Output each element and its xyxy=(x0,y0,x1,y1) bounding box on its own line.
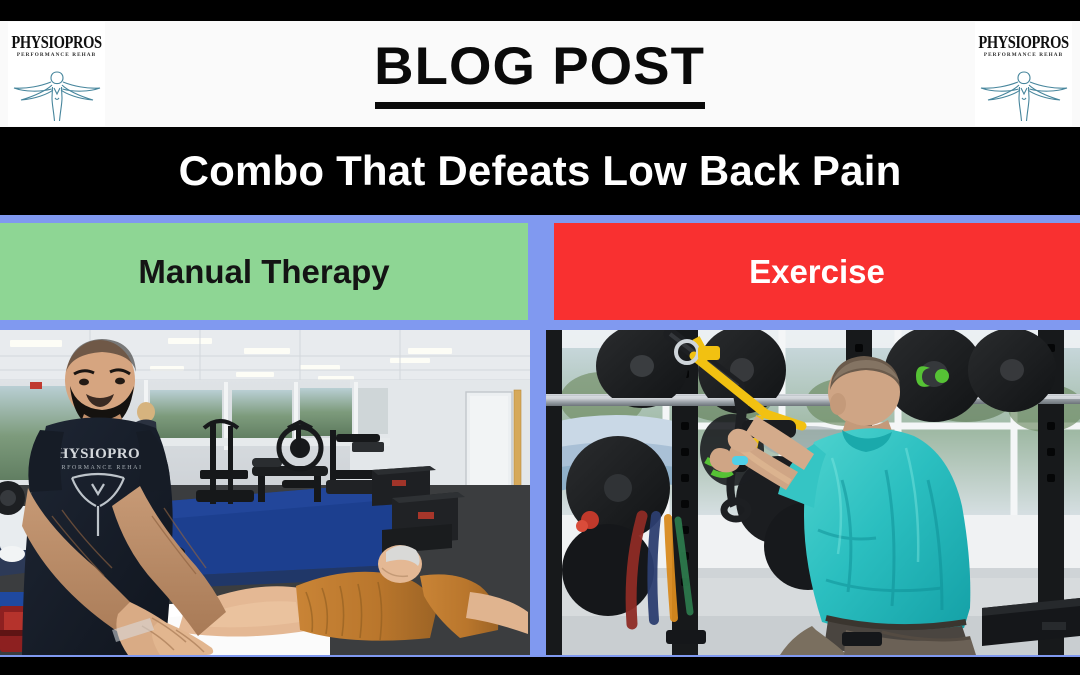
photo-exercise xyxy=(546,330,1080,655)
physiopros-logo-right: PHYSIOPROS PERFORMANCE REHAB xyxy=(975,22,1072,126)
svg-text:PHYSIOPROS: PHYSIOPROS xyxy=(47,446,149,462)
category-chip-label: Exercise xyxy=(749,255,885,288)
category-label-band: Manual Therapy Exercise xyxy=(0,215,1080,330)
photo-manual-therapy: PHYSIOPROS PERFORMANCE REHAB xyxy=(0,330,530,655)
blog-post-graphic: PHYSIOPROS PERFORMANCE REHAB xyxy=(0,0,1080,675)
page-title: BLOG POST xyxy=(375,40,706,93)
logo-wordmark: PHYSIOPROS xyxy=(11,34,101,52)
header: PHYSIOPROS PERFORMANCE REHAB xyxy=(0,21,1080,127)
category-chip-manual-therapy[interactable]: Manual Therapy xyxy=(0,223,528,320)
logo-tagline: PERFORMANCE REHAB xyxy=(17,53,96,58)
category-chip-label: Manual Therapy xyxy=(138,255,389,288)
photo-row: PHYSIOPROS PERFORMANCE REHAB xyxy=(0,330,1080,657)
physiopros-logo-left: PHYSIOPROS PERFORMANCE REHAB xyxy=(8,22,105,126)
logo-tagline: PERFORMANCE REHAB xyxy=(984,53,1063,58)
top-black-bar xyxy=(0,0,1080,21)
logo-figure-icon xyxy=(978,60,1070,122)
headline-band: Combo That Defeats Low Back Pain xyxy=(0,127,1080,215)
category-chip-exercise[interactable]: Exercise xyxy=(554,223,1080,320)
logo-figure-icon xyxy=(11,60,103,122)
svg-text:PERFORMANCE REHAB: PERFORMANCE REHAB xyxy=(51,465,144,471)
bottom-black-bar xyxy=(0,657,1080,675)
logo-wordmark: PHYSIOPROS xyxy=(978,34,1068,52)
page-title-group: BLOG POST xyxy=(375,40,705,109)
page-title-underline xyxy=(375,102,705,109)
headline-text: Combo That Defeats Low Back Pain xyxy=(179,150,902,192)
